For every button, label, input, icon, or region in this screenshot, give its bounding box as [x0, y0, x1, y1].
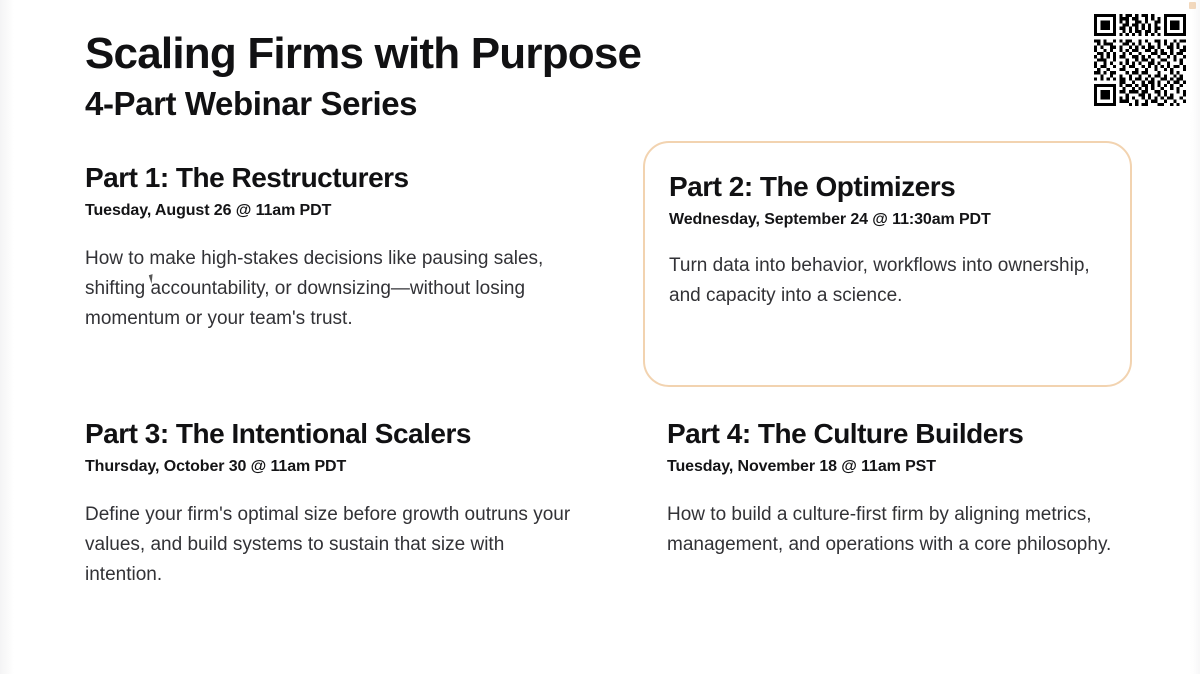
webinar-part-2[interactable]: Part 2: The Optimizers Wednesday, Septem… [643, 141, 1132, 387]
part-3-description: Define your firm's optimal size before g… [85, 500, 585, 590]
part-2-description: Turn data into behavior, workflows into … [669, 251, 1106, 311]
slide-header: Scaling Firms with Purpose 4-Part Webina… [85, 30, 805, 123]
webinar-part-4: Part 4: The Culture Builders Tuesday, No… [667, 418, 1157, 560]
part-4-heading: Part 4: The Culture Builders [667, 418, 1157, 450]
qr-code-icon [1094, 14, 1186, 106]
part-1-date: Tuesday, August 26 @ 11am PDT [85, 201, 585, 222]
page-subtitle: 4-Part Webinar Series [85, 84, 805, 124]
webinar-part-3: Part 3: The Intentional Scalers Thursday… [85, 418, 585, 590]
part-3-date: Thursday, October 30 @ 11am PDT [85, 457, 585, 478]
qr-code[interactable] [1088, 8, 1192, 112]
webinar-part-1: Part 1: The Restructurers Tuesday, Augus… [85, 162, 585, 334]
part-1-heading: Part 1: The Restructurers [85, 162, 585, 194]
part-2-heading: Part 2: The Optimizers [669, 171, 1106, 203]
part-3-heading: Part 3: The Intentional Scalers [85, 418, 585, 450]
corner-accent-mark [1189, 2, 1196, 9]
part-1-description: How to make high-stakes decisions like p… [85, 244, 585, 334]
part-4-description: How to build a culture-first firm by ali… [667, 500, 1157, 560]
page-title: Scaling Firms with Purpose [85, 30, 805, 78]
webinar-series-slide: Scaling Firms with Purpose 4-Part Webina… [0, 0, 1200, 674]
slide-left-edge [0, 0, 14, 674]
part-2-date: Wednesday, September 24 @ 11:30am PDT [669, 210, 1106, 231]
part-4-date: Tuesday, November 18 @ 11am PST [667, 457, 1157, 478]
